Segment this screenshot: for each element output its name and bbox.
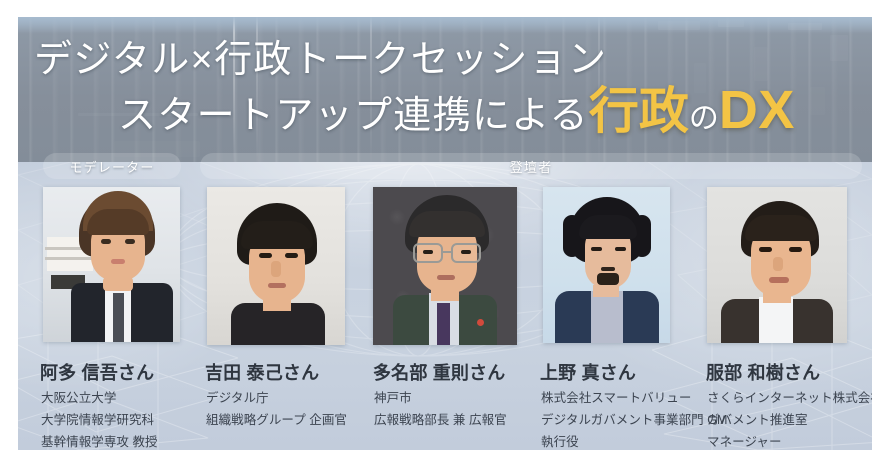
role-label-speakers: 登壇者 [510,157,553,176]
role-label-moderator: モデレーター [69,157,154,176]
portrait-photo-1 [43,187,180,342]
title-accent-dx: DX [719,85,795,135]
person-detail-3-1: 広報戦略部長 兼 広報官 [374,409,507,428]
portrait-photo-2 [207,187,345,345]
person-detail-4-0: 株式会社スマートバリュー [541,387,691,406]
person-name-1: 阿多 信吾さん [40,359,154,385]
title-accent-gyousei: 行政 [589,86,689,136]
person-detail-4-2: 執行役 [541,431,579,450]
person-detail-5-1: ガバメント推進室 [707,409,808,428]
person-detail-3-0: 神戸市 [374,387,412,406]
event-banner: デジタル×行政トークセッション スタートアップ連携による行政のDX モデレーター… [18,17,872,450]
title-line-2: スタートアップ連携による行政のDX [18,85,872,145]
title-line-1: デジタル×行政トークセッション [18,35,872,85]
person-detail-1-1: 大学院情報学研究科 [41,409,154,428]
people-row: 阿多 信吾さん 大阪公立大学 大学院情報学研究科 基幹情報学専攻 教授 [18,187,872,450]
person-detail-5-0: さくらインターネット株式会社 [707,387,872,406]
person-name-4: 上野 真さん [540,359,636,385]
role-bar-moderator: モデレーター [43,153,181,179]
person-detail-1-2: 基幹情報学専攻 教授 [41,431,158,450]
person-detail-4-1: デジタルガバメント事業部門 GM [541,409,727,428]
portrait-photo-4 [543,187,670,343]
title-line-2-prefix: スタートアップ連携による [118,90,589,142]
person-detail-5-2: マネージャー [707,431,782,450]
role-bar-speakers: 登壇者 [200,153,862,179]
person-name-3: 多名部 重則さん [373,359,505,385]
portrait-photo-3 [373,187,517,345]
person-name-5: 服部 和樹さん [706,359,820,385]
person-detail-2-1: 組織戦略グループ 企画官 [206,409,347,428]
title-block: デジタル×行政トークセッション スタートアップ連携による行政のDX [18,35,872,145]
person-detail-2-0: デジタル庁 [206,387,269,406]
person-detail-1-0: 大阪公立大学 [41,387,116,406]
portrait-photo-5 [707,187,847,343]
person-name-2: 吉田 泰己さん [205,359,319,385]
title-particle-no: の [689,93,719,145]
